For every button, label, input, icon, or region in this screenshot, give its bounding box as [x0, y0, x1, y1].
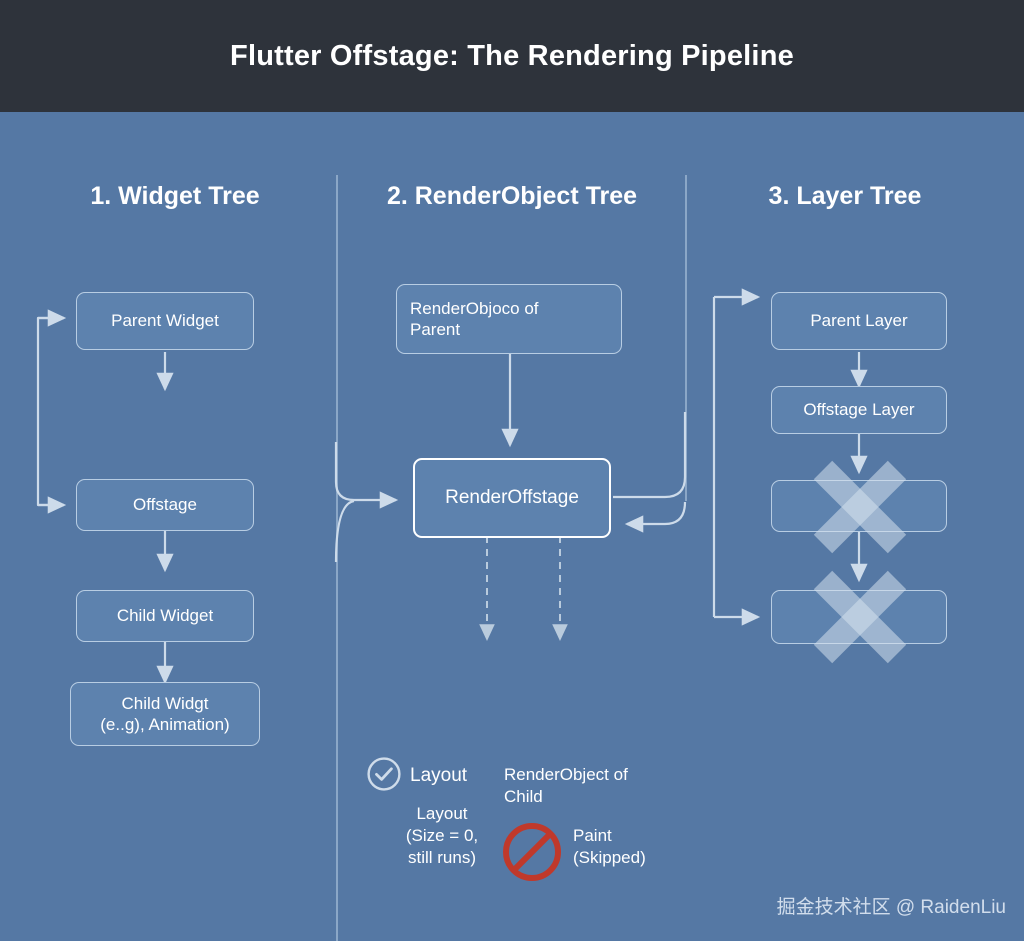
layout-label: Layout	[410, 764, 467, 789]
layer-node-offstage-layer[interactable]: Offstage Layer	[771, 386, 947, 434]
watermark: 掘金技术社区 @ RaidenLiu	[777, 892, 1006, 919]
renderobject-child-label: RenderObject of Child	[504, 764, 672, 808]
widget-node-child-widget[interactable]: Child Widget	[76, 590, 254, 642]
prohibition-icon	[501, 821, 563, 888]
layer-node-parent-layer[interactable]: Parent Layer	[771, 292, 947, 350]
layer-node-skipped-1[interactable]	[771, 480, 947, 532]
widget-node-parent-widget[interactable]: Parent Widget	[76, 292, 254, 350]
layer-node-skipped-2[interactable]	[771, 590, 947, 644]
check-circle-icon	[366, 756, 402, 797]
header-bar: Flutter Offstage: The Rendering Pipeline	[0, 0, 1024, 112]
diagram-canvas: 1. Widget Tree 2. RenderObject Tree 3. L…	[0, 112, 1024, 941]
widget-node-offstage[interactable]: Offstage	[76, 479, 254, 531]
render-node-offstage[interactable]: RenderOffstage	[413, 458, 611, 538]
paint-skipped-label: Paint (Skipped)	[573, 825, 693, 869]
widget-node-child-animation[interactable]: Child Widgt (e..g), Animation)	[70, 682, 260, 746]
layout-detail: Layout (Size = 0, still runs)	[378, 803, 506, 869]
page-title: Flutter Offstage: The Rendering Pipeline	[230, 40, 794, 73]
render-node-parent[interactable]: RenderObjoco of Parent	[396, 284, 622, 354]
